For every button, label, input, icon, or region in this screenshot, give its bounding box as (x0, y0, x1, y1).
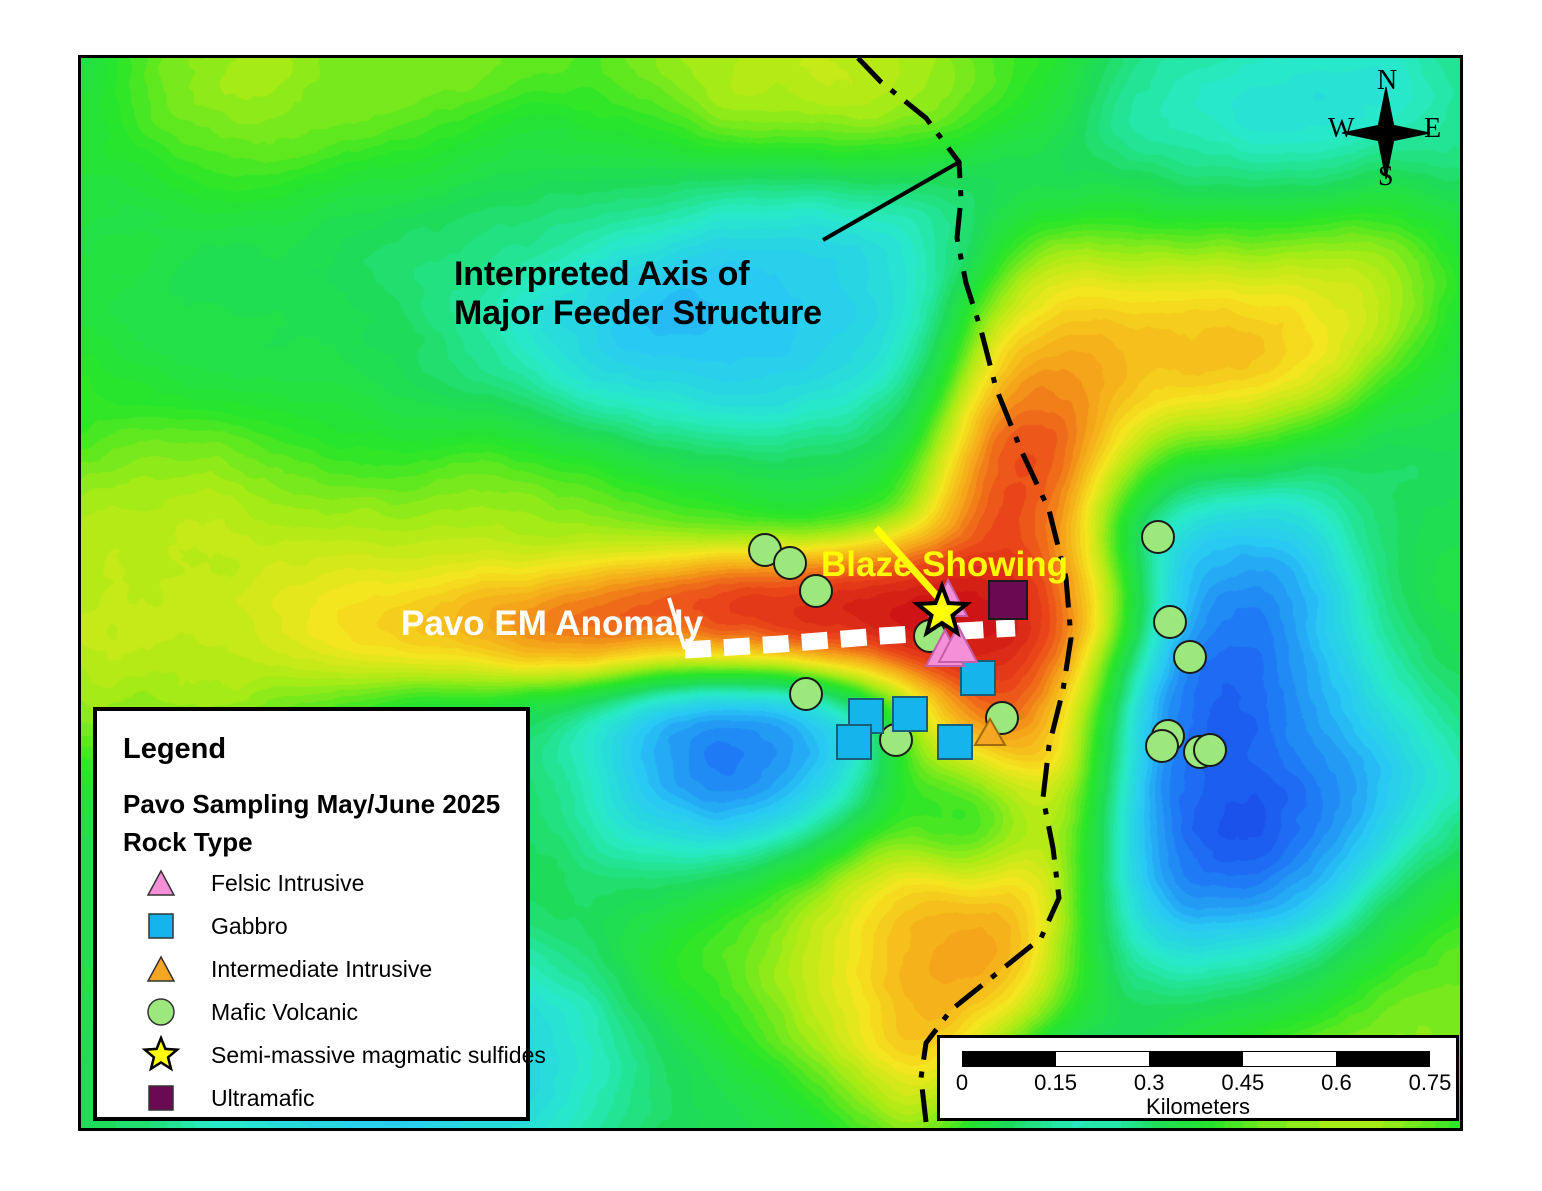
scale-bar-units-label: Kilometers (940, 1094, 1456, 1120)
scale-bar-segment (1056, 1052, 1149, 1066)
scale-bar-panel: 00.150.30.450.60.75 Kilometers (937, 1035, 1459, 1121)
legend-symbol-circle-icon (141, 992, 181, 1032)
legend-item[interactable]: Gabbro (123, 906, 523, 949)
compass-label-north: N (1377, 65, 1397, 97)
legend-item-label: Semi-massive magmatic sulfides (211, 1042, 546, 1069)
legend-symbol-triangle-icon (141, 949, 181, 989)
compass-label-east: E (1424, 113, 1441, 145)
legend-title: Legend (123, 733, 226, 766)
compass-label-west: W (1328, 113, 1354, 145)
legend-item[interactable]: Ultramafic (123, 1078, 523, 1121)
legend-category-heading: Rock Type (123, 827, 253, 858)
legend-item-label: Ultramafic (211, 1085, 315, 1112)
legend-symbol-triangle-icon (141, 863, 181, 903)
scale-bar-tick-label: 0.6 (1321, 1070, 1352, 1096)
north-arrow-compass: N S W E (1326, 63, 1446, 203)
scale-bar-segment (1336, 1052, 1429, 1066)
legend-item-list: Felsic Intrusive Gabbro Intermediate Int… (123, 863, 523, 1121)
scale-bar-tick-label: 0.75 (1409, 1070, 1452, 1096)
legend-symbol-square-icon (141, 1078, 181, 1118)
legend-item-label: Intermediate Intrusive (211, 956, 432, 983)
legend-item-label: Gabbro (211, 913, 288, 940)
scale-bar-tick-labels: 00.150.30.450.60.75 (962, 1070, 1430, 1096)
legend-subtitle: Pavo Sampling May/June 2025 (123, 789, 500, 820)
legend-panel: Legend Pavo Sampling May/June 2025 Rock … (93, 707, 530, 1121)
legend-item[interactable]: Semi-massive magmatic sulfides (123, 1035, 523, 1078)
legend-item-label: Felsic Intrusive (211, 870, 364, 897)
scale-bar-tick-label: 0.45 (1221, 1070, 1264, 1096)
scale-bar-segment (1149, 1052, 1242, 1066)
annotation-blaze-showing: Blaze Showing (821, 545, 1068, 585)
scale-bar-tick-label: 0.15 (1034, 1070, 1077, 1096)
legend-symbol-square-icon (141, 906, 181, 946)
annotation-pavo-em-anomaly: Pavo EM Anomaly (401, 604, 703, 644)
scale-bar-graphic (962, 1051, 1430, 1067)
geophysical-map: Interpreted Axis of Major Feeder Structu… (78, 55, 1463, 1131)
scale-bar-segment (963, 1052, 1056, 1066)
legend-symbol-star-icon (141, 1035, 181, 1075)
legend-item-label: Mafic Volcanic (211, 999, 358, 1026)
scale-bar-tick-label: 0 (956, 1070, 968, 1096)
compass-label-south: S (1378, 161, 1394, 193)
scale-bar-tick-label: 0.3 (1134, 1070, 1165, 1096)
legend-item[interactable]: Intermediate Intrusive (123, 949, 523, 992)
annotation-interpreted-feeder-axis: Interpreted Axis of Major Feeder Structu… (454, 255, 822, 333)
legend-item[interactable]: Felsic Intrusive (123, 863, 523, 906)
scale-bar-segment (1243, 1052, 1336, 1066)
legend-item[interactable]: Mafic Volcanic (123, 992, 523, 1035)
